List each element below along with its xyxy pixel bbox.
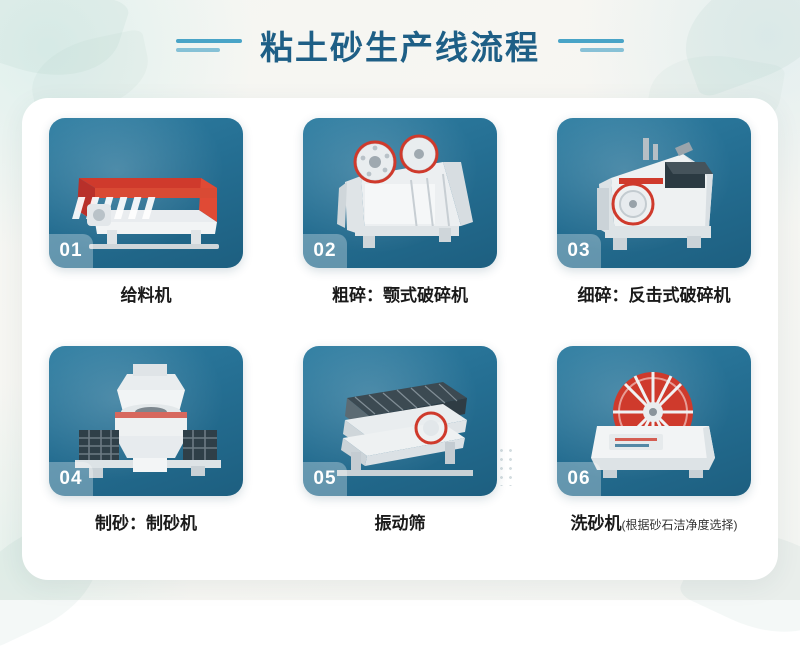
step-thumbnail[interactable]: 02 (303, 118, 497, 268)
title-decoration-right-icon (558, 39, 624, 52)
page-title-row: 粘土砂生产线流程 (0, 22, 800, 68)
process-step-01[interactable]: 01 给料机 (22, 118, 270, 340)
step-caption: 洗砂机(根据砂石洁净度选择) (571, 509, 738, 534)
step-sublabel: (根据砂石洁净度选择) (622, 518, 738, 532)
page-title: 粘土砂生产线流程 (260, 21, 540, 69)
title-decoration-left-icon (176, 39, 242, 52)
step-caption: 粗碎：颚式破碎机 (332, 281, 468, 306)
step-number-badge: 06 (557, 462, 601, 496)
step-caption: 制砂：制砂机 (95, 509, 197, 534)
step-label: 制砂：制砂机 (95, 514, 197, 533)
step-thumbnail[interactable]: 05 (303, 346, 497, 496)
step-caption: 振动筛 (375, 509, 426, 534)
step-number-badge: 04 (49, 462, 93, 496)
step-caption: 给料机 (121, 281, 172, 306)
process-flow-page: 粘土砂生产线流程 (0, 0, 800, 600)
step-thumbnail[interactable]: 01 (49, 118, 243, 268)
step-caption: 细碎：反击式破碎机 (578, 281, 731, 306)
step-number-badge: 02 (303, 234, 347, 268)
step-label: 细碎：反击式破碎机 (578, 286, 731, 305)
step-number-badge: 01 (49, 234, 93, 268)
process-step-04[interactable]: 04 制砂：制砂机 (22, 346, 270, 568)
step-label: 给料机 (121, 286, 172, 305)
process-step-02[interactable]: 02 粗碎：颚式破碎机 (276, 118, 524, 340)
process-step-03[interactable]: 03 细碎：反击式破碎机 (530, 118, 778, 340)
step-number-badge: 03 (557, 234, 601, 268)
step-thumbnail[interactable]: 06 (557, 346, 751, 496)
step-label: 振动筛 (375, 514, 426, 533)
process-step-05[interactable]: 05 振动筛 (276, 346, 524, 568)
process-step-06[interactable]: 06 洗砂机(根据砂石洁净度选择) (530, 346, 778, 568)
step-thumbnail[interactable]: 03 (557, 118, 751, 268)
step-number-badge: 05 (303, 462, 347, 496)
step-label: 洗砂机 (571, 514, 622, 533)
step-thumbnail[interactable]: 04 (49, 346, 243, 496)
step-label: 粗碎：颚式破碎机 (332, 286, 468, 305)
process-step-grid: 01 给料机 (22, 118, 778, 568)
